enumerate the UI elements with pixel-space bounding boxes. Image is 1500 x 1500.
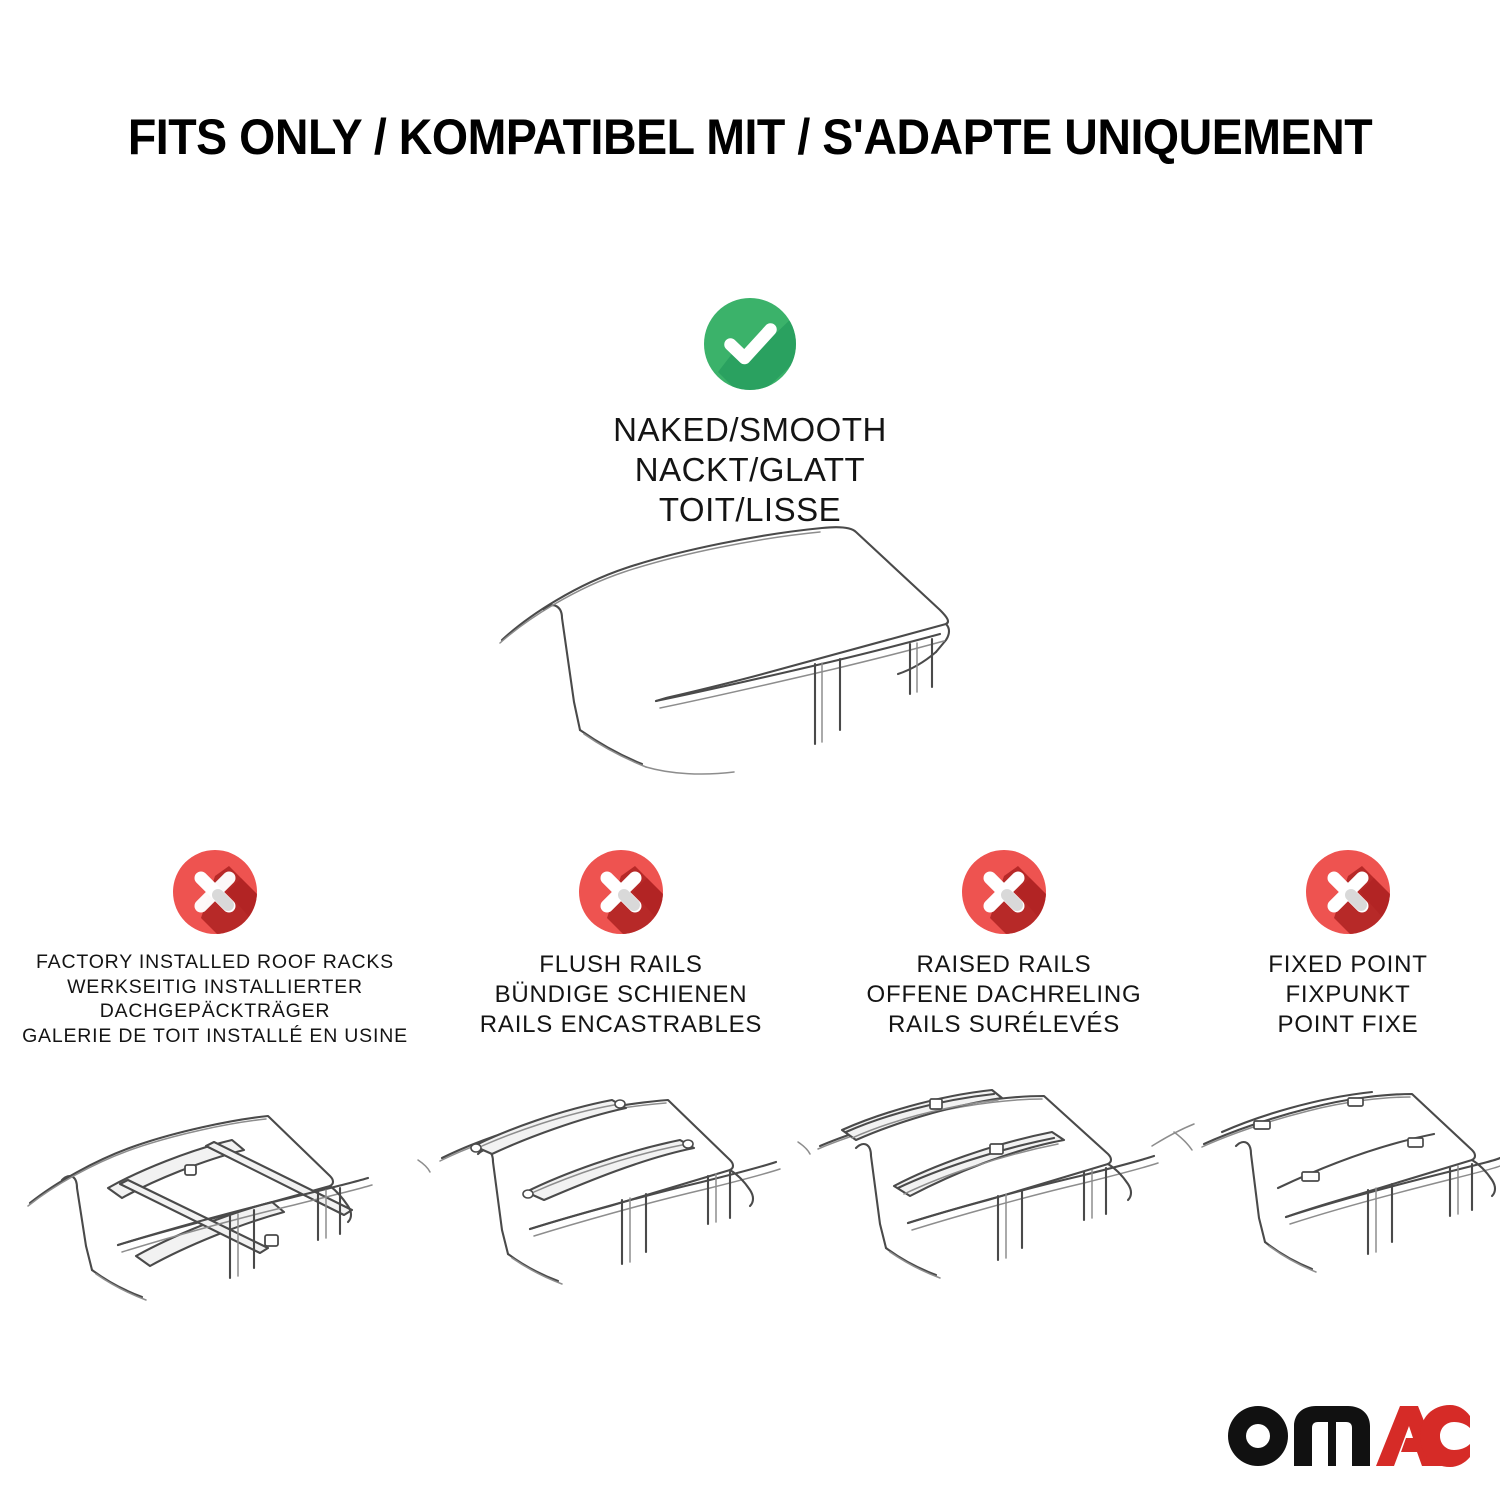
item-label-en: FLUSH RAILS <box>430 950 812 980</box>
not-compatible-item-flush-rails: FLUSH RAILS BÜNDIGE SCHIENEN RAILS ENCAS… <box>430 848 812 1468</box>
car-roof-naked-smooth-illustration <box>470 512 1060 802</box>
approved-label-de: NACKT/GLATT <box>0 450 1500 490</box>
approved-section: NAKED/SMOOTH NACKT/GLATT TOIT/LISSE <box>0 296 1500 530</box>
x-circle-icon <box>577 848 665 936</box>
not-compatible-item-raised-rails: RAISED RAILS OFFENE DACHRELING RAILS SUR… <box>812 848 1196 1468</box>
car-roof-factory-rack-illustration <box>0 1088 430 1318</box>
not-compatible-row: FACTORY INSTALLED ROOF RACKS WERKSEITIG … <box>0 848 1500 1468</box>
check-circle-icon <box>702 296 798 392</box>
car-roof-fixed-point-illustration <box>1196 1088 1500 1318</box>
item-label-fr: RAILS ENCASTRABLES <box>430 1010 812 1040</box>
not-compatible-item-fixed-point: FIXED POINT FIXPUNKT POINT FIXE <box>1196 848 1500 1468</box>
item-label-en: RAISED RAILS <box>812 950 1196 980</box>
item-label-de-1: WERKSEITIG INSTALLIERTER <box>0 975 430 1000</box>
item-label-fr: POINT FIXE <box>1196 1010 1500 1040</box>
fitment-infographic: FITS ONLY / KOMPATIBEL MIT / S'ADAPTE UN… <box>0 0 1500 1500</box>
item-label-de: BÜNDIGE SCHIENEN <box>430 980 812 1010</box>
x-circle-icon <box>1304 848 1392 936</box>
item-labels: FLUSH RAILS BÜNDIGE SCHIENEN RAILS ENCAS… <box>430 950 812 1040</box>
item-label-en: FIXED POINT <box>1196 950 1500 980</box>
item-label-en: FACTORY INSTALLED ROOF RACKS <box>0 950 430 975</box>
car-roof-flush-rails-illustration <box>430 1088 812 1318</box>
x-circle-icon <box>171 848 259 936</box>
not-compatible-item-factory-rack: FACTORY INSTALLED ROOF RACKS WERKSEITIG … <box>0 848 430 1468</box>
page-title: FITS ONLY / KOMPATIBEL MIT / S'ADAPTE UN… <box>53 108 1448 166</box>
item-labels: RAISED RAILS OFFENE DACHRELING RAILS SUR… <box>812 950 1196 1040</box>
x-circle-icon <box>960 848 1048 936</box>
item-label-fr: RAILS SURÉLEVÉS <box>812 1010 1196 1040</box>
item-label-de: OFFENE DACHRELING <box>812 980 1196 1010</box>
item-label-de-2: DACHGEPÄCKTRÄGER <box>0 999 430 1024</box>
item-label-fr: GALERIE DE TOIT INSTALLÉ EN USINE <box>0 1024 430 1049</box>
item-labels: FIXED POINT FIXPUNKT POINT FIXE <box>1196 950 1500 1040</box>
item-label-de: FIXPUNKT <box>1196 980 1500 1010</box>
omac-logo <box>1224 1402 1470 1472</box>
approved-label-en: NAKED/SMOOTH <box>0 410 1500 450</box>
car-roof-raised-rails-illustration <box>812 1088 1196 1318</box>
item-labels: FACTORY INSTALLED ROOF RACKS WERKSEITIG … <box>0 950 430 1048</box>
